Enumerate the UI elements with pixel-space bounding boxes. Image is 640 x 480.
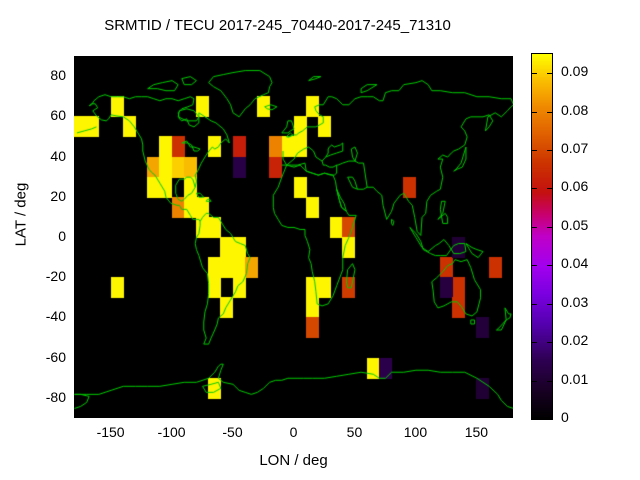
- y-tick-label: 80: [0, 67, 66, 83]
- page-title: SRMTID / TECU 2017-245_70440-2017-245_71…: [0, 17, 555, 34]
- y-tick-label: -60: [0, 349, 66, 365]
- x-tick-label: -50: [203, 424, 263, 440]
- x-tick-label: -100: [142, 424, 202, 440]
- colorbar-gradient: [532, 54, 552, 419]
- colorbar-tick-mark: [532, 419, 537, 420]
- y-tick-label: 0: [0, 228, 66, 244]
- figure-canvas: SRMTID / TECU 2017-245_70440-2017-245_71…: [0, 0, 640, 480]
- colorbar-tick-label: 0.01: [561, 371, 588, 387]
- colorbar-tick-mark: [547, 419, 552, 420]
- colorbar-tick-label: 0.07: [561, 140, 588, 156]
- colorbar-tick-mark: [532, 73, 537, 74]
- colorbar-tick-mark: [532, 227, 537, 228]
- colorbar-tick-mark: [547, 73, 552, 74]
- colorbar-tick-mark: [547, 188, 552, 189]
- colorbar-tick-label: 0.03: [561, 294, 588, 310]
- colorbar-tick-mark: [547, 304, 552, 305]
- y-tick-label: 60: [0, 107, 66, 123]
- colorbar-tick-mark: [532, 112, 537, 113]
- colorbar-tick-mark: [547, 265, 552, 266]
- colorbar-tick-mark: [532, 304, 537, 305]
- colorbar-tick-mark: [532, 150, 537, 151]
- colorbar-tick-label: 0.05: [561, 217, 588, 233]
- y-tick-label: -80: [0, 389, 66, 405]
- colorbar-tick-mark: [547, 150, 552, 151]
- colorbar-tick-label: 0.08: [561, 102, 588, 118]
- y-tick-label: 40: [0, 148, 66, 164]
- x-tick-label: 50: [324, 424, 384, 440]
- colorbar[interactable]: [531, 53, 553, 420]
- colorbar-tick-mark: [532, 342, 537, 343]
- y-tick-label: 20: [0, 188, 66, 204]
- colorbar-tick-label: 0: [561, 409, 569, 425]
- y-axis-title: LAT / deg: [13, 160, 30, 270]
- colorbar-tick-mark: [532, 188, 537, 189]
- x-tick-label: -150: [81, 424, 141, 440]
- colorbar-tick-mark: [547, 381, 552, 382]
- heatmap-canvas: [74, 56, 513, 418]
- y-tick-label: -20: [0, 268, 66, 284]
- colorbar-tick-mark: [532, 265, 537, 266]
- map-plot-area[interactable]: [74, 56, 513, 418]
- x-tick-label: 150: [446, 424, 506, 440]
- colorbar-tick-mark: [547, 112, 552, 113]
- colorbar-tick-label: 0.02: [561, 332, 588, 348]
- colorbar-tick-label: 0.06: [561, 178, 588, 194]
- x-tick-label: 100: [385, 424, 445, 440]
- y-tick-label: -40: [0, 308, 66, 324]
- colorbar-tick-label: 0.04: [561, 255, 588, 271]
- x-tick-label: 0: [264, 424, 324, 440]
- colorbar-tick-mark: [547, 227, 552, 228]
- colorbar-tick-mark: [532, 381, 537, 382]
- colorbar-tick-label: 0.09: [561, 63, 588, 79]
- x-axis-title: LON / deg: [74, 452, 513, 469]
- colorbar-tick-mark: [547, 342, 552, 343]
